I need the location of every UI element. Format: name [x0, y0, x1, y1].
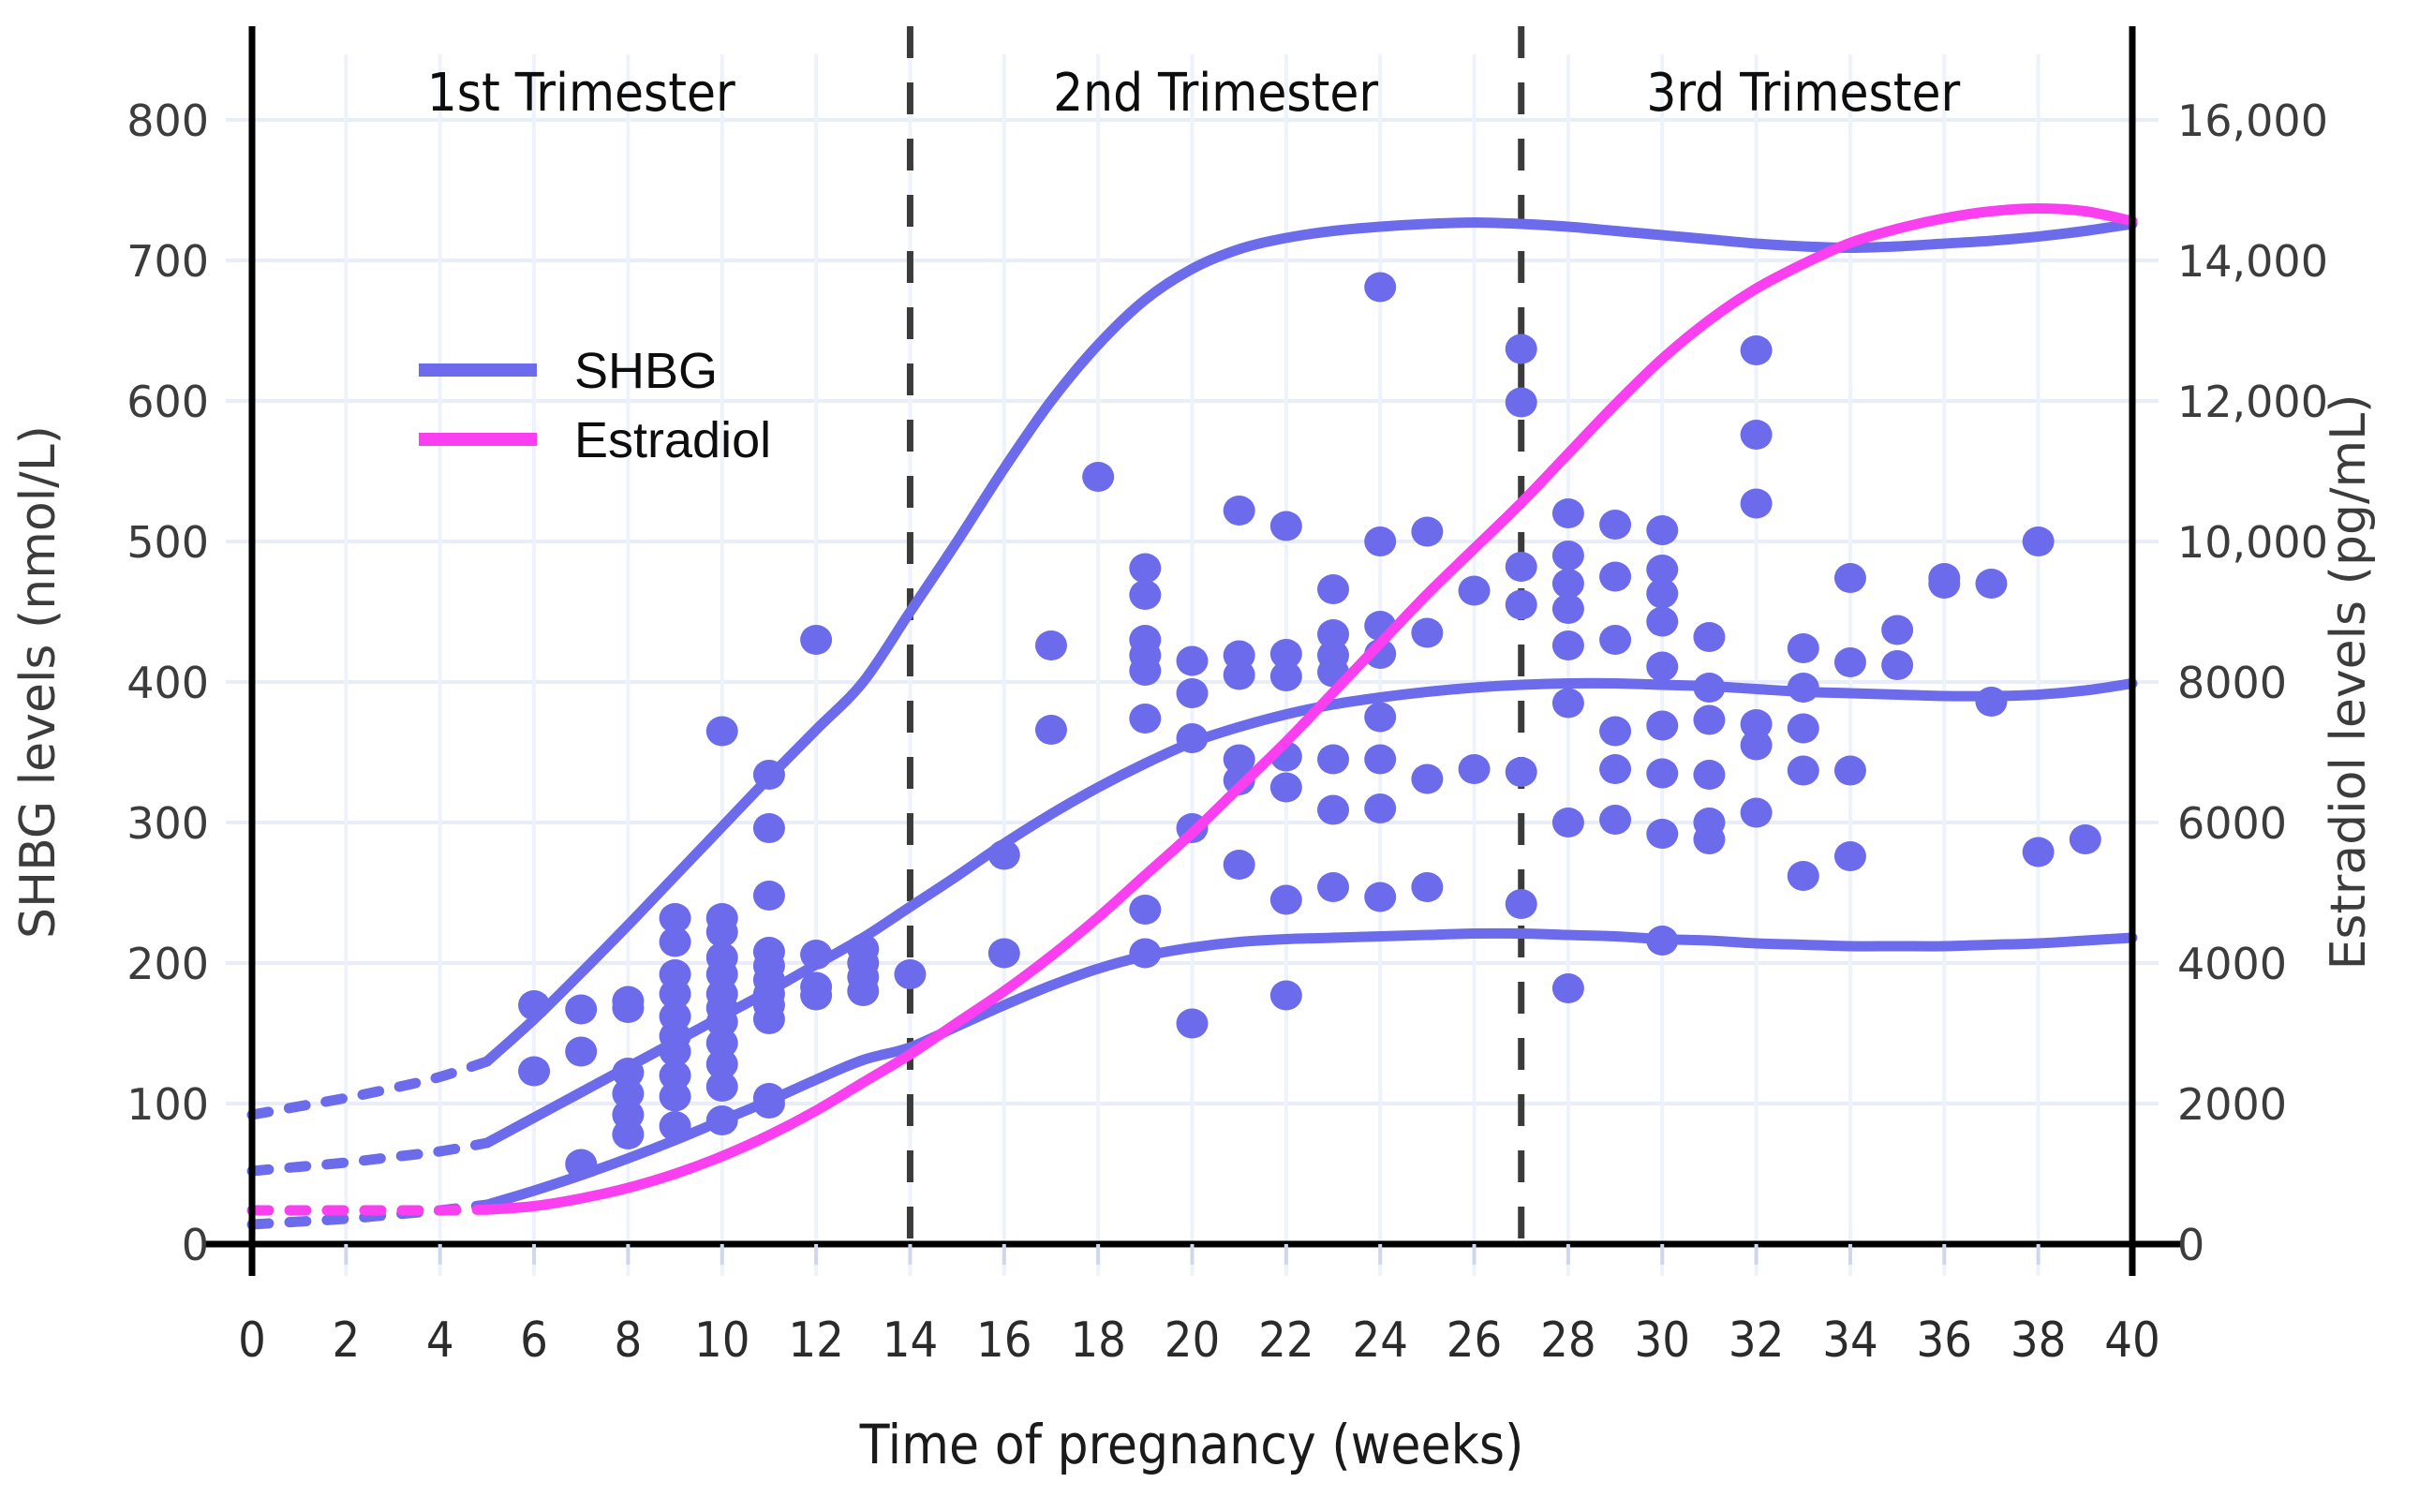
data-point: [1364, 526, 1396, 556]
x-tick-label: 36: [1917, 1312, 1973, 1369]
data-point: [1646, 711, 1678, 741]
x-axis-title: Time of pregnancy (weeks): [859, 1413, 1524, 1476]
data-point: [1552, 541, 1584, 571]
x-tick-label: 20: [1165, 1312, 1221, 1369]
y2-tick-label: 8000: [2177, 658, 2287, 708]
data-point: [1364, 882, 1396, 912]
data-point: [1317, 872, 1349, 902]
data-point: [1646, 607, 1678, 637]
data-point: [1506, 889, 1537, 919]
data-point: [1552, 630, 1584, 660]
data-point: [1834, 647, 1866, 677]
data-point: [847, 976, 879, 1006]
data-point: [1552, 498, 1584, 528]
data-point: [1693, 622, 1725, 652]
data-point: [1364, 273, 1396, 303]
data-point: [1035, 630, 1067, 660]
y-tick-label: 700: [126, 236, 209, 287]
x-tick-label: 8: [615, 1312, 643, 1369]
data-point: [800, 625, 832, 655]
data-point: [1129, 554, 1161, 584]
data-point: [1788, 633, 1819, 663]
y-axis-tick-labels: 0100200300400500600700800: [126, 96, 209, 1270]
y-tick-label: 400: [126, 658, 209, 708]
data-point: [1129, 656, 1161, 686]
data-point: [1552, 973, 1584, 1003]
y-tick-label: 0: [182, 1220, 209, 1270]
x-tick-label: 30: [1634, 1312, 1690, 1369]
data-point: [1599, 562, 1631, 592]
data-point: [753, 881, 785, 911]
data-point: [1224, 660, 1255, 690]
data-point: [1834, 756, 1866, 786]
data-point: [1270, 773, 1302, 803]
x-tick-label: 22: [1258, 1312, 1314, 1369]
y2-tick-label: 14,000: [2177, 236, 2328, 287]
data-point: [612, 1119, 644, 1149]
x-tick-label: 32: [1729, 1312, 1785, 1369]
y2-tick-label: 12,000: [2177, 377, 2328, 427]
data-point: [1646, 579, 1678, 609]
x-tick-label: 16: [976, 1312, 1032, 1369]
data-point: [1599, 717, 1631, 747]
data-point: [1177, 646, 1209, 676]
data-point: [1459, 576, 1491, 606]
data-point: [1834, 841, 1866, 871]
data-point: [1364, 703, 1396, 733]
trimester-label: 1st Trimester: [427, 63, 735, 124]
data-point: [800, 981, 832, 1011]
data-point: [894, 959, 926, 989]
x-tick-label: 18: [1070, 1312, 1126, 1369]
data-point: [2023, 526, 2055, 556]
data-point: [1317, 745, 1349, 775]
scatter-chart-figure: 0100200300400500600700800 02000400060008…: [0, 0, 2419, 1512]
data-point: [1552, 689, 1584, 719]
data-point: [1788, 756, 1819, 786]
chart-container: 0100200300400500600700800 02000400060008…: [0, 0, 2419, 1512]
data-point: [1741, 731, 1773, 761]
data-point: [1270, 661, 1302, 691]
x-tick-label: 0: [238, 1312, 266, 1369]
data-point: [1741, 798, 1773, 828]
legend-label-estradiol: Estradiol: [574, 412, 771, 468]
data-point: [1129, 895, 1161, 925]
data-point: [1506, 757, 1537, 787]
series-line-dashed-estradiol: [252, 1209, 487, 1210]
data-point: [1646, 759, 1678, 789]
y2-tick-label: 6000: [2177, 798, 2287, 849]
trimester-label: 3rd Trimester: [1646, 63, 1960, 124]
data-point: [1741, 489, 1773, 519]
data-point: [612, 993, 644, 1023]
y-axis-title: SHBG levels (nmol/L): [10, 425, 67, 939]
y-tick-label: 100: [126, 1079, 209, 1130]
y-tick-label: 500: [126, 517, 209, 568]
data-point: [1693, 824, 1725, 854]
x-tick-label: 40: [2104, 1312, 2160, 1369]
x-tick-label: 12: [788, 1312, 844, 1369]
x-tick-label: 34: [1822, 1312, 1878, 1369]
data-point: [1646, 515, 1678, 545]
data-point: [706, 717, 738, 747]
data-point: [1741, 335, 1773, 365]
data-point: [660, 1082, 691, 1112]
data-point: [1224, 496, 1255, 526]
data-point: [1270, 511, 1302, 541]
data-point: [1693, 760, 1725, 790]
data-point: [565, 995, 597, 1025]
y2-tick-label: 4000: [2177, 939, 2287, 989]
data-point: [2023, 838, 2055, 867]
x-tick-label: 10: [694, 1312, 750, 1369]
data-point: [988, 939, 1020, 969]
data-point: [1177, 1009, 1209, 1039]
data-point: [1035, 715, 1067, 745]
data-point: [1177, 678, 1209, 708]
data-point: [1411, 872, 1443, 902]
y-tick-label: 600: [126, 377, 209, 427]
data-point: [1881, 650, 1913, 680]
y2-tick-label: 2000: [2177, 1079, 2287, 1130]
data-point: [1646, 819, 1678, 849]
data-point: [1270, 885, 1302, 915]
data-point: [1224, 850, 1255, 880]
data-point: [1506, 388, 1537, 418]
x-tick-label: 28: [1540, 1312, 1596, 1369]
y-tick-label: 200: [126, 939, 209, 989]
data-point: [1788, 714, 1819, 744]
data-point: [1788, 861, 1819, 891]
data-point: [1082, 462, 1114, 492]
x-tick-label: 38: [2011, 1312, 2067, 1369]
y2-tick-label: 16,000: [2177, 96, 2328, 146]
data-point: [1506, 334, 1537, 364]
data-point: [1693, 705, 1725, 735]
data-point: [1928, 569, 1960, 599]
data-point: [1552, 594, 1584, 624]
x-tick-label: 6: [520, 1312, 548, 1369]
data-point: [1317, 795, 1349, 825]
data-point: [2070, 824, 2101, 854]
data-point: [1459, 754, 1491, 784]
data-point: [565, 1037, 597, 1067]
x-tick-label: 26: [1447, 1312, 1503, 1369]
data-point: [753, 1004, 785, 1034]
figure-background: [0, 0, 2419, 1512]
data-point: [1646, 652, 1678, 682]
data-point: [1599, 754, 1631, 784]
trimester-label: 2nd Trimester: [1053, 63, 1378, 124]
data-point: [660, 927, 691, 957]
data-point: [1129, 580, 1161, 610]
data-point: [1411, 517, 1443, 547]
data-point: [1599, 805, 1631, 835]
data-point: [518, 1057, 550, 1087]
y2-tick-label: 10,000: [2177, 517, 2328, 568]
x-tick-label: 2: [332, 1312, 360, 1369]
data-point: [1506, 590, 1537, 620]
data-point: [1317, 574, 1349, 604]
data-point: [706, 1072, 738, 1102]
data-point: [1881, 615, 1913, 645]
y2-axis-title: Estradiol levels (pg/mL): [2321, 394, 2377, 971]
data-point: [1741, 420, 1773, 450]
y-tick-label: 300: [126, 798, 209, 849]
x-tick-label: 24: [1352, 1312, 1408, 1369]
data-point: [753, 813, 785, 843]
data-point: [1552, 808, 1584, 838]
data-point: [1364, 745, 1396, 775]
trimester-annotations: 1st Trimester2nd Trimester3rd Trimester: [427, 63, 1961, 124]
x-tick-label: 4: [426, 1312, 454, 1369]
data-point: [1975, 569, 2007, 599]
data-point: [1834, 563, 1866, 593]
x-tick-label: 14: [883, 1312, 939, 1369]
data-point: [1270, 981, 1302, 1011]
data-point: [1506, 552, 1537, 582]
data-point: [1599, 510, 1631, 540]
data-point: [1411, 764, 1443, 794]
y2-tick-label: 0: [2177, 1220, 2204, 1270]
legend-label-shbg: SHBG: [574, 343, 718, 399]
y-tick-label: 800: [126, 96, 209, 146]
data-point: [1599, 625, 1631, 655]
data-point: [1129, 704, 1161, 734]
data-point: [1364, 793, 1396, 823]
data-point: [1411, 618, 1443, 648]
